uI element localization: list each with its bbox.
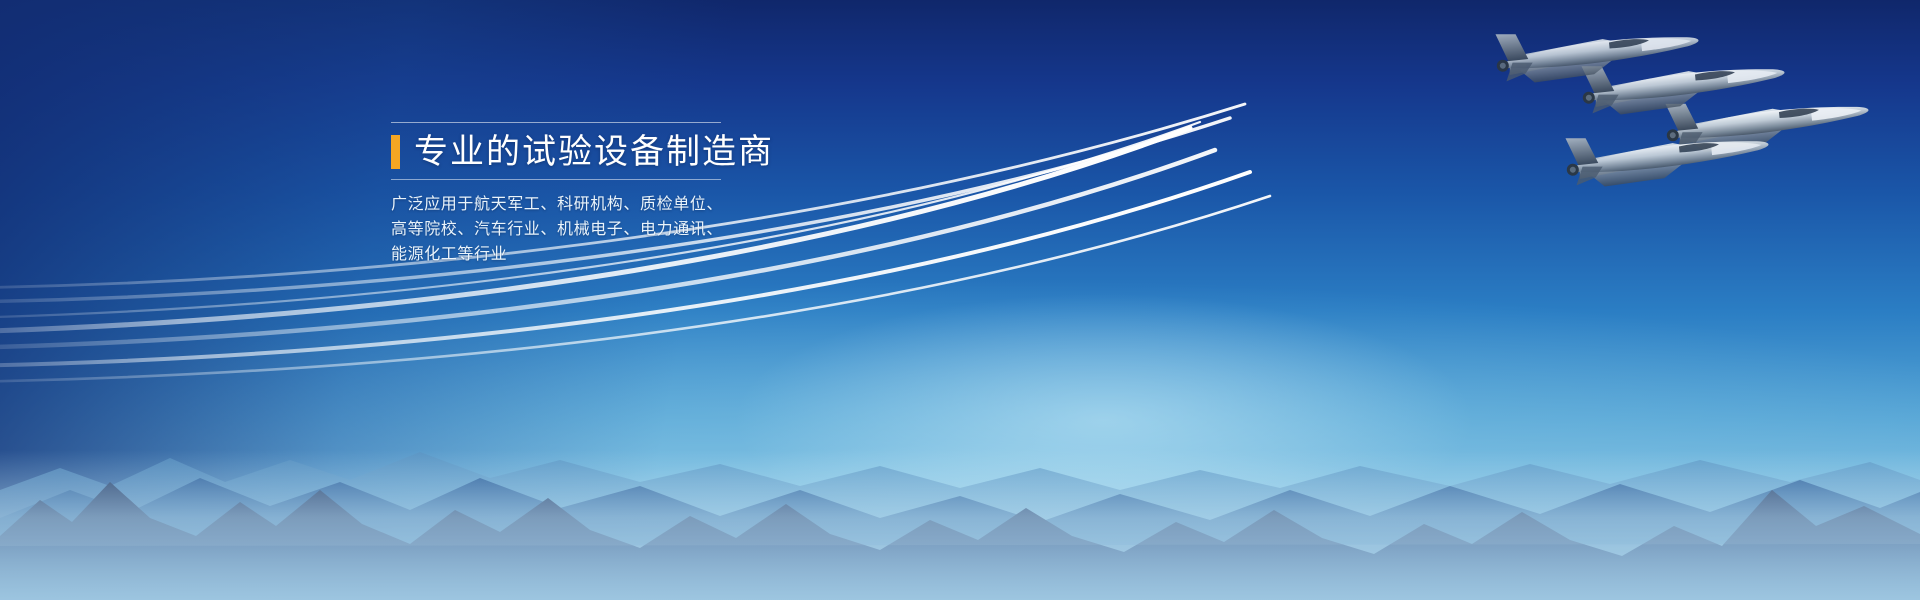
banner-copy: 专业的试验设备制造商 广泛应用于航天军工、科研机构、质检单位、 高等院校、汽车行… [391,122,811,266]
divider-bottom [391,179,721,180]
jet-formation-icon [1020,0,1920,330]
subtitle-line-3: 能源化工等行业 [391,241,811,266]
subtitle-line-2: 高等院校、汽车行业、机械电子、电力通讯、 [391,216,811,241]
divider-top [391,122,721,123]
subtitle-block: 广泛应用于航天军工、科研机构、质检单位、 高等院校、汽车行业、机械电子、电力通讯… [391,191,811,266]
headline-row: 专业的试验设备制造商 [391,134,811,170]
subtitle-line-1: 广泛应用于航天军工、科研机构、质检单位、 [391,191,811,216]
page-title: 专业的试验设备制造商 [414,134,774,170]
mountain-silhouettes [0,340,1920,600]
accent-bar [391,135,400,169]
hero-banner: 专业的试验设备制造商 广泛应用于航天军工、科研机构、质检单位、 高等院校、汽车行… [0,0,1920,600]
